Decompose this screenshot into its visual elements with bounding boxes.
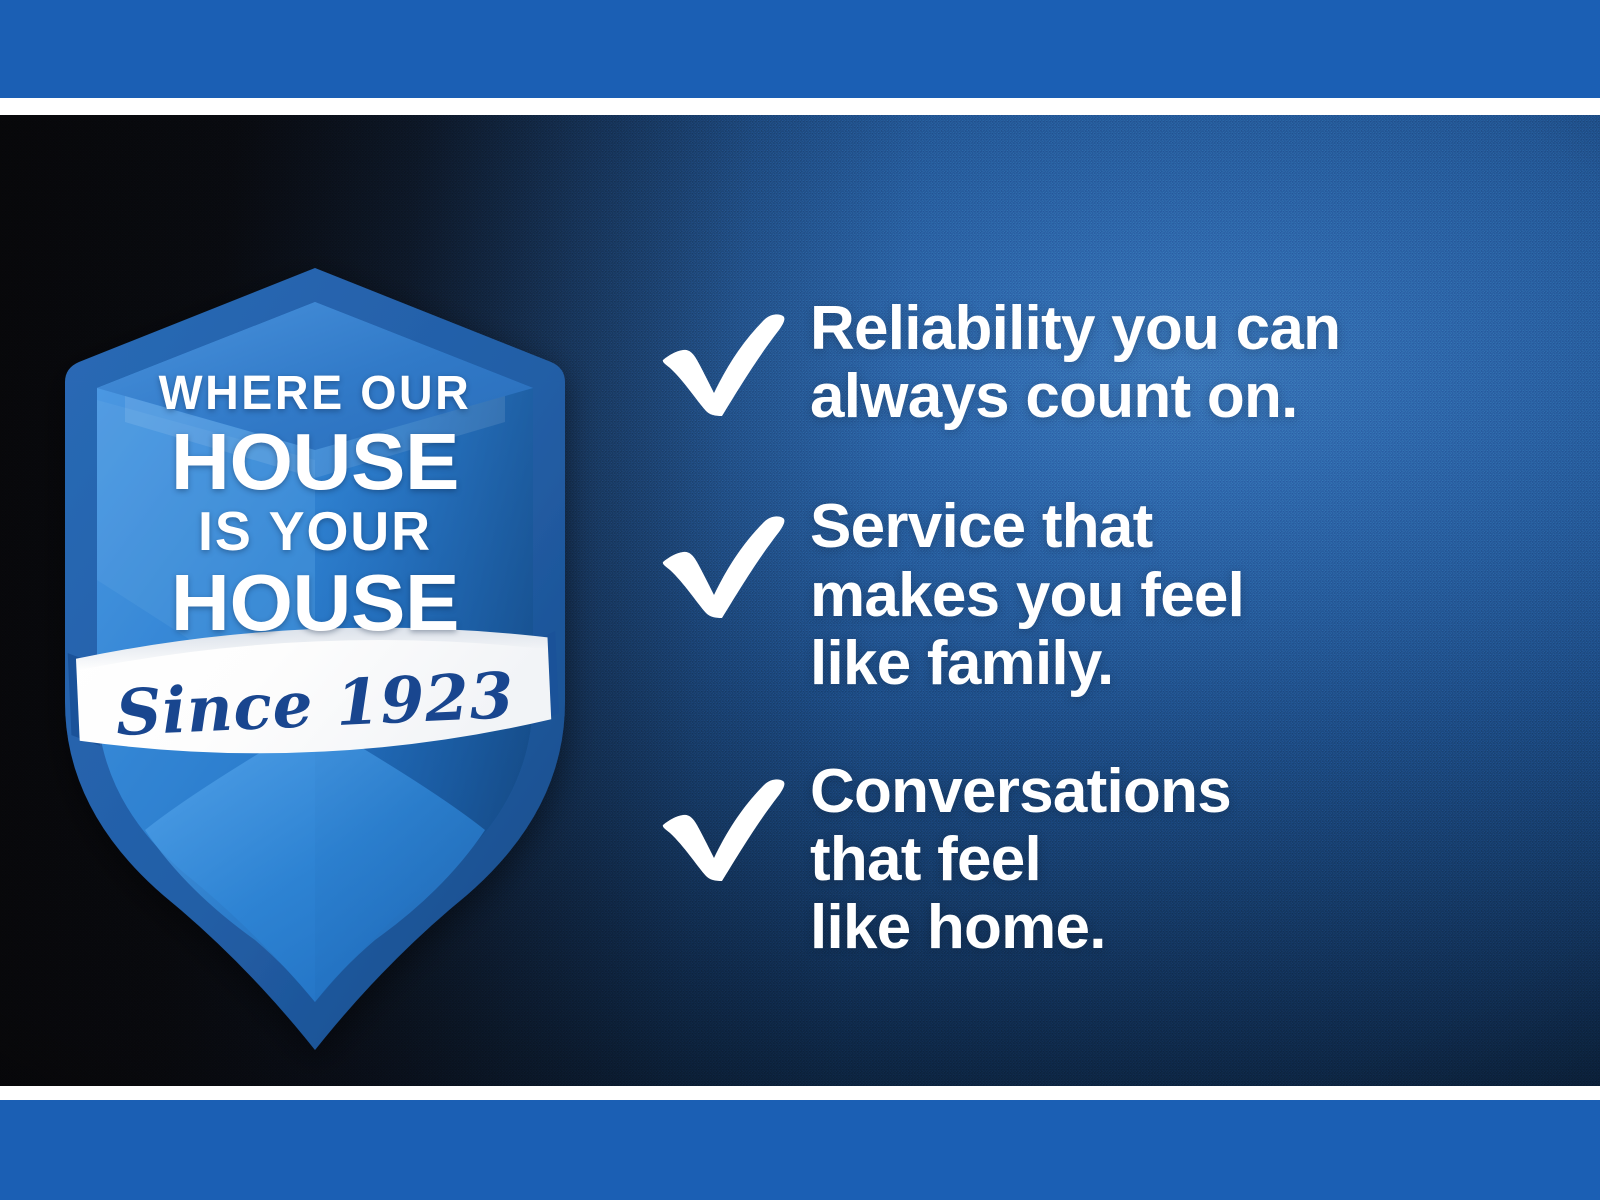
top-accent-bar: [0, 0, 1600, 98]
benefit-line: Service that: [810, 493, 1520, 561]
benefit-item: Conversations that feel like home.: [660, 758, 1520, 963]
badge-line-4: HOUSE: [60, 563, 570, 643]
benefit-line: that feel: [810, 826, 1520, 894]
benefit-text: Conversations that feel like home.: [810, 758, 1520, 963]
badge-line-2: HOUSE: [60, 422, 570, 502]
benefit-text: Reliability you can always count on.: [810, 295, 1520, 431]
benefit-item: Service that makes you feel like family.: [660, 493, 1520, 698]
benefit-line: Reliability you can: [810, 295, 1520, 363]
benefit-line: like family.: [810, 630, 1520, 698]
checkmark-icon: [660, 295, 810, 417]
badge-line-3: IS YOUR: [70, 504, 560, 559]
benefit-item: Reliability you can always count on.: [660, 295, 1520, 431]
shield-badge: WHERE OUR HOUSE IS YOUR HOUSE Since 1923: [65, 250, 565, 940]
promotional-poster: WHERE OUR HOUSE IS YOUR HOUSE Since 1923…: [0, 0, 1600, 1200]
benefit-line: always count on.: [810, 363, 1520, 431]
benefit-line: like home.: [810, 894, 1520, 962]
checkmark-icon: [660, 758, 810, 882]
benefit-line: makes you feel: [810, 562, 1520, 630]
badge-line-1: WHERE OUR: [73, 370, 558, 418]
bottom-accent-bar: [0, 1100, 1600, 1200]
benefit-list: Reliability you can always count on. Ser…: [660, 295, 1520, 963]
checkmark-icon: [660, 493, 810, 619]
benefit-line: Conversations: [810, 758, 1520, 826]
poster-stage: WHERE OUR HOUSE IS YOUR HOUSE Since 1923…: [0, 115, 1600, 1086]
benefit-text: Service that makes you feel like family.: [810, 493, 1520, 698]
